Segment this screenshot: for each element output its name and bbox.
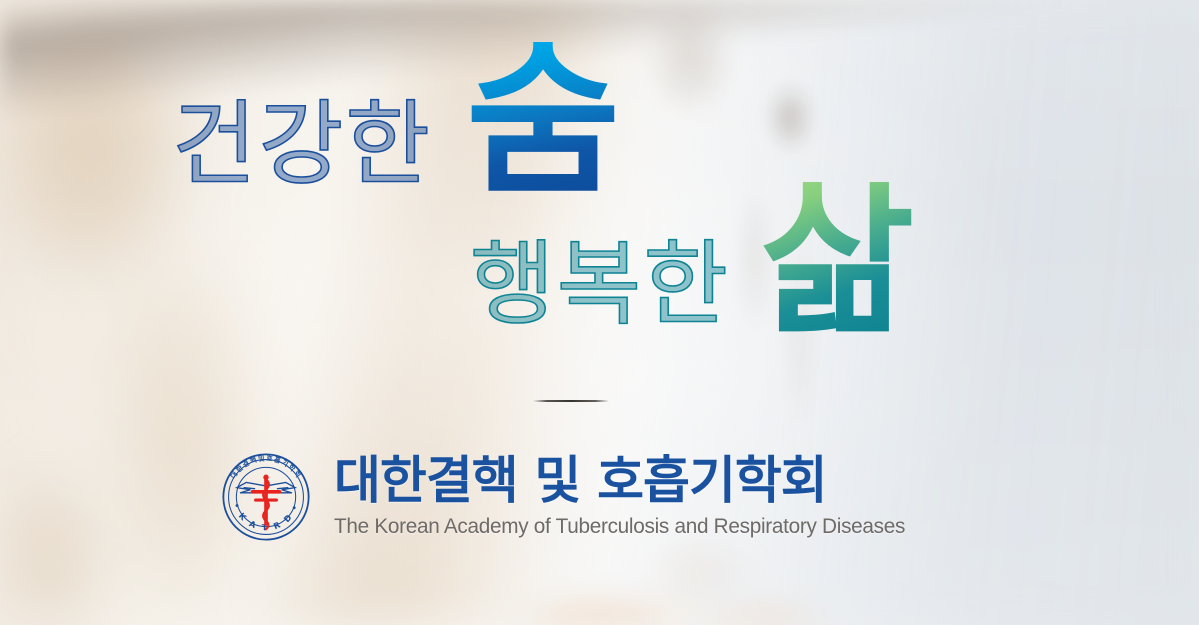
banner-content: 건강한 숨 행복한 삶 대한결핵및호 xyxy=(0,0,1199,625)
hero-banner: 건강한 숨 행복한 삶 대한결핵및호 xyxy=(0,0,1199,625)
headline-word-life: 삶 xyxy=(760,182,915,337)
headline-line-1: 건강한 숨 xyxy=(172,42,620,197)
organization-text-group: 대한결핵 및 호흡기학회 The Korean Academy of Tuber… xyxy=(334,455,926,538)
katrd-seal-logo-icon: 대한결핵및호흡기학회 • K A T R D • xyxy=(214,445,318,549)
headline-word-healthy: 건강한 xyxy=(172,99,432,197)
headline-line-2: 행복한 삶 xyxy=(470,182,914,337)
headline-word-happy: 행복한 xyxy=(470,239,730,337)
organization-name-english: The Korean Academy of Tuberculosis and R… xyxy=(334,514,905,539)
headline-word-breath: 숨 xyxy=(466,42,621,197)
organization-lockup: 대한결핵및호흡기학회 • K A T R D • xyxy=(214,445,926,549)
headline-divider xyxy=(533,400,609,402)
organization-name-korean: 대한결핵 및 호흡기학회 xyxy=(334,455,827,508)
